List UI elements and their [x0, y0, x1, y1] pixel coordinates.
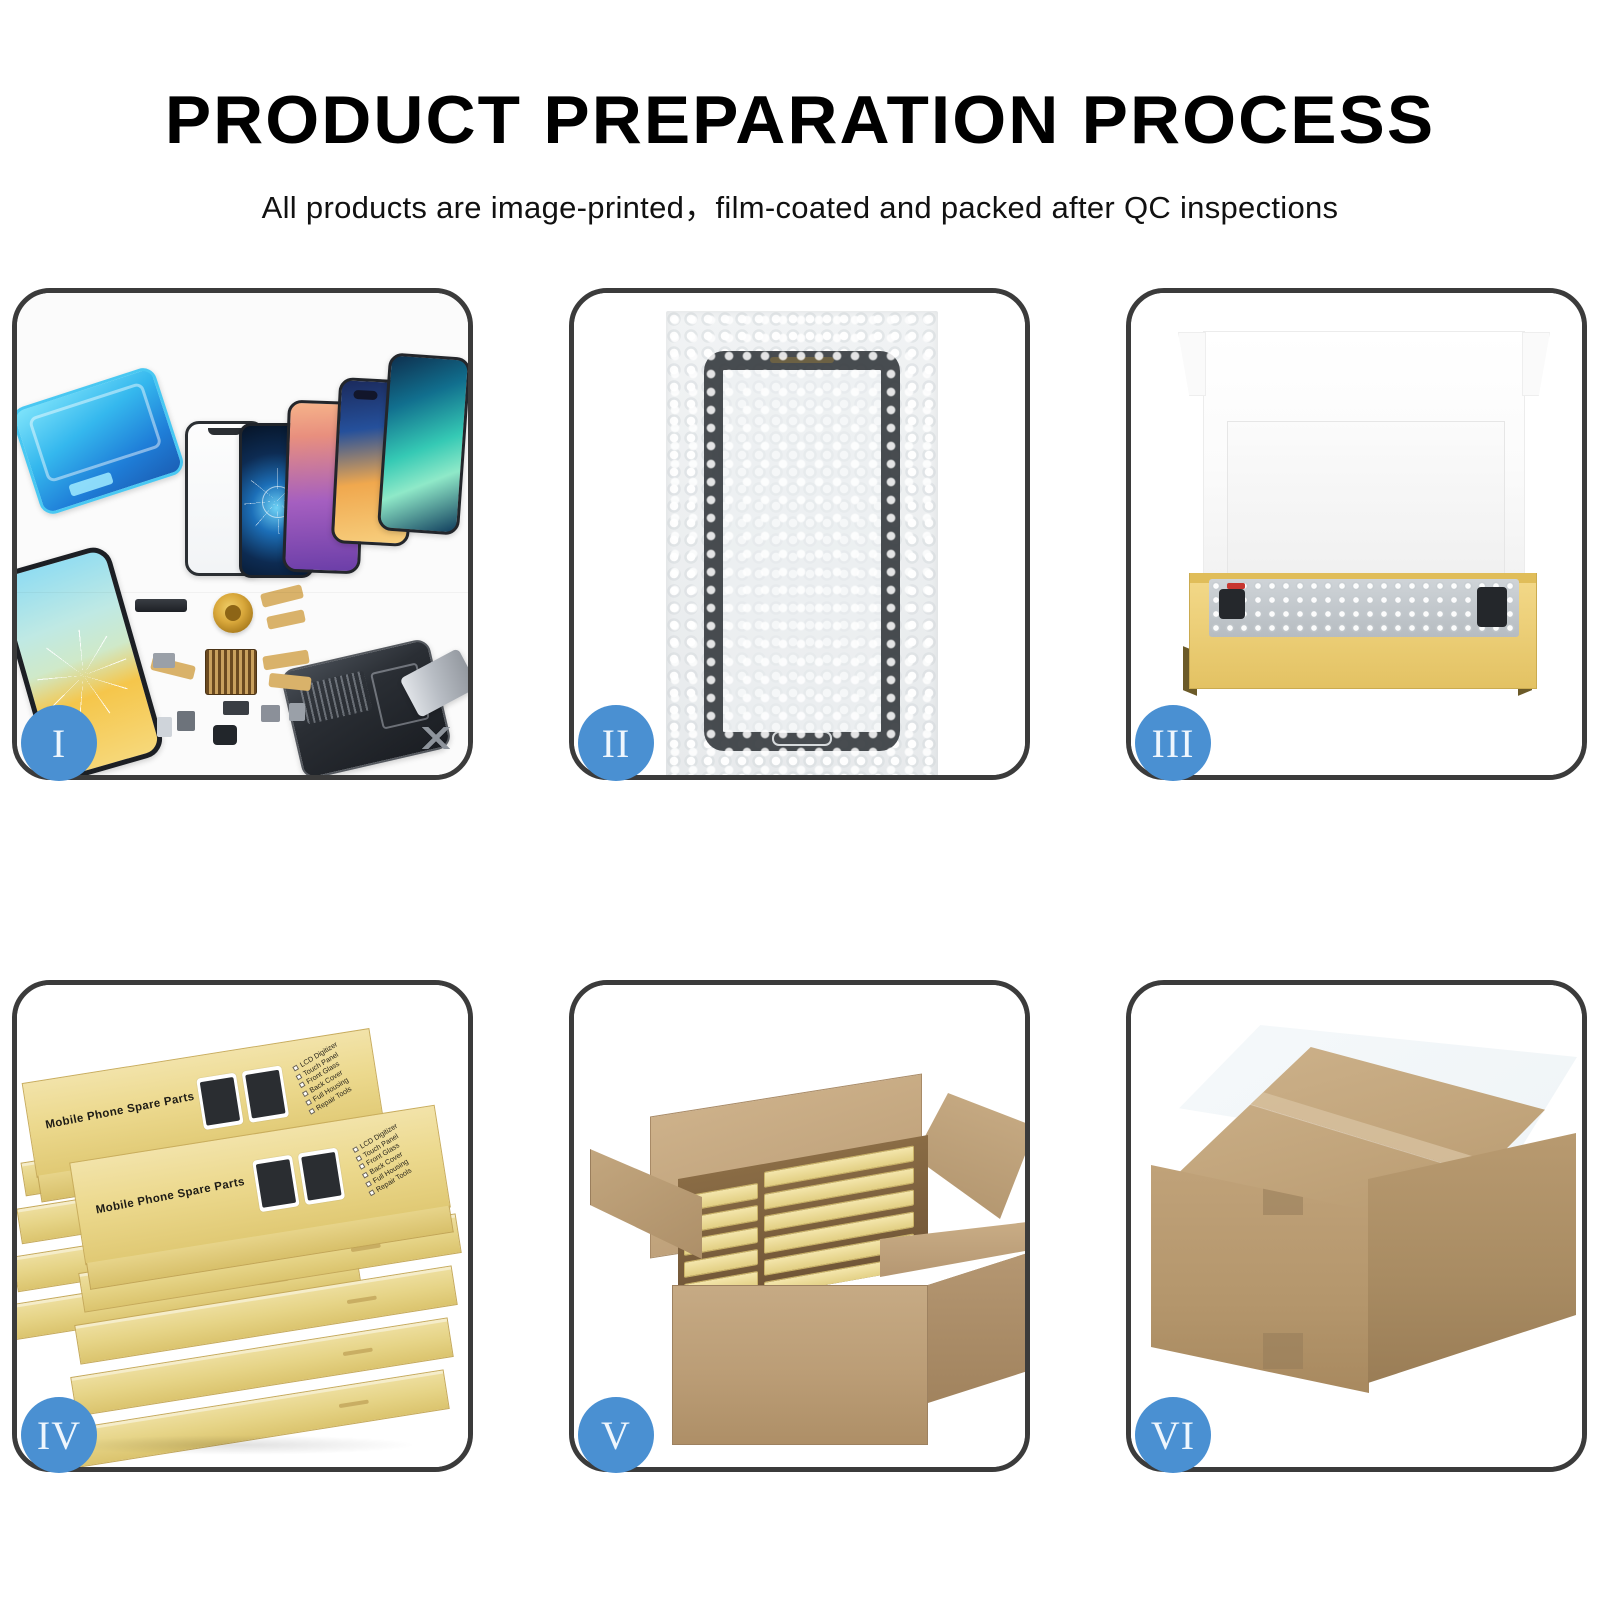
small-part-icon	[177, 711, 195, 731]
sealed-carton-image	[1131, 985, 1582, 1467]
retail-box-thumbnails	[196, 1065, 289, 1130]
phone-parts-collage-image	[17, 293, 468, 775]
flex-cable-icon	[268, 673, 311, 691]
page-subtitle: All products are image-printed，film-coat…	[0, 154, 1600, 227]
step-badge-3: III	[1135, 705, 1211, 781]
retail-box-checklist: LCD Digitizer Touch Panel Front Glass Ba…	[290, 1048, 349, 1113]
process-step-grid: I II	[12, 288, 1588, 1468]
panel-4-image: Mobile Phone Spare Parts LCD Digitizer T…	[17, 985, 468, 1467]
process-step-panel-4: Mobile Phone Spare Parts LCD Digitizer T…	[12, 980, 473, 1472]
phone-teal-icon	[377, 352, 468, 535]
stack-shadow	[57, 1435, 417, 1455]
panel-5-image	[574, 985, 1025, 1467]
retail-box-thumbnails	[252, 1147, 345, 1212]
phone-thumbnail-icon	[242, 1065, 290, 1123]
step-badge-1: I	[21, 705, 97, 781]
small-part-icon	[261, 705, 280, 722]
step-badge-2: II	[578, 705, 654, 781]
mailer-box-image	[1131, 293, 1582, 775]
carton-right-face	[928, 1251, 1025, 1403]
retail-box-title: Mobile Phone Spare Parts	[95, 1176, 246, 1217]
screws-icon	[418, 727, 454, 749]
process-step-panel-2: II	[569, 288, 1030, 780]
small-part-icon	[289, 703, 305, 721]
process-step-panel-5: V	[569, 980, 1030, 1472]
header: PRODUCT PREPARATION PROCESS All products…	[0, 0, 1600, 227]
panel-3-image	[1131, 293, 1582, 775]
camera-module-icon	[213, 725, 237, 745]
retail-box-checklist: LCD Digitizer Touch Panel Front Glass Ba…	[350, 1130, 409, 1195]
open-carton-image	[574, 985, 1025, 1467]
phone-thumbnail-icon	[252, 1155, 300, 1213]
carton-front-face	[672, 1285, 928, 1445]
retail-box-title: Mobile Phone Spare Parts	[44, 1091, 195, 1132]
product-preparation-infographic: PRODUCT PREPARATION PROCESS All products…	[0, 0, 1600, 1600]
panel-1-image	[17, 293, 468, 775]
touch-panel-icon	[704, 351, 900, 751]
step-badge-5: V	[578, 1397, 654, 1473]
bubble-wrap-sheet-icon	[666, 311, 938, 775]
page-title: PRODUCT PREPARATION PROCESS	[0, 0, 1600, 154]
panel-2-image	[574, 293, 1025, 775]
process-step-panel-3: III	[1126, 288, 1587, 780]
flex-cable-icon	[266, 609, 306, 630]
step-badge-6: VI	[1135, 1397, 1211, 1473]
red-marker-icon	[1227, 583, 1245, 589]
sim-tray-icon	[157, 717, 172, 737]
wrapped-screen-in-box-icon	[1209, 579, 1519, 637]
panel-6-image	[1131, 985, 1582, 1467]
cpu-chip-icon	[205, 649, 257, 695]
speaker-icon	[135, 599, 187, 612]
process-step-panel-1: I	[12, 288, 473, 780]
foam-sheet-icon	[1227, 421, 1505, 581]
small-part-icon	[153, 653, 175, 668]
small-part-icon	[223, 701, 249, 715]
carton-right-flap	[914, 1093, 1025, 1219]
process-step-panel-6: VI	[1126, 980, 1587, 1472]
phone-thumbnail-icon	[298, 1147, 346, 1205]
adhesive-sticker-icon	[17, 365, 187, 518]
phone-thumbnail-icon	[196, 1073, 244, 1131]
bubble-wrapped-screen-image	[574, 293, 1025, 775]
flex-cable-icon	[260, 584, 304, 608]
stacked-retail-boxes-image: Mobile Phone Spare Parts LCD Digitizer T…	[17, 985, 468, 1467]
wireless-coil-icon	[213, 593, 253, 633]
step-badge-4: IV	[21, 1397, 97, 1473]
